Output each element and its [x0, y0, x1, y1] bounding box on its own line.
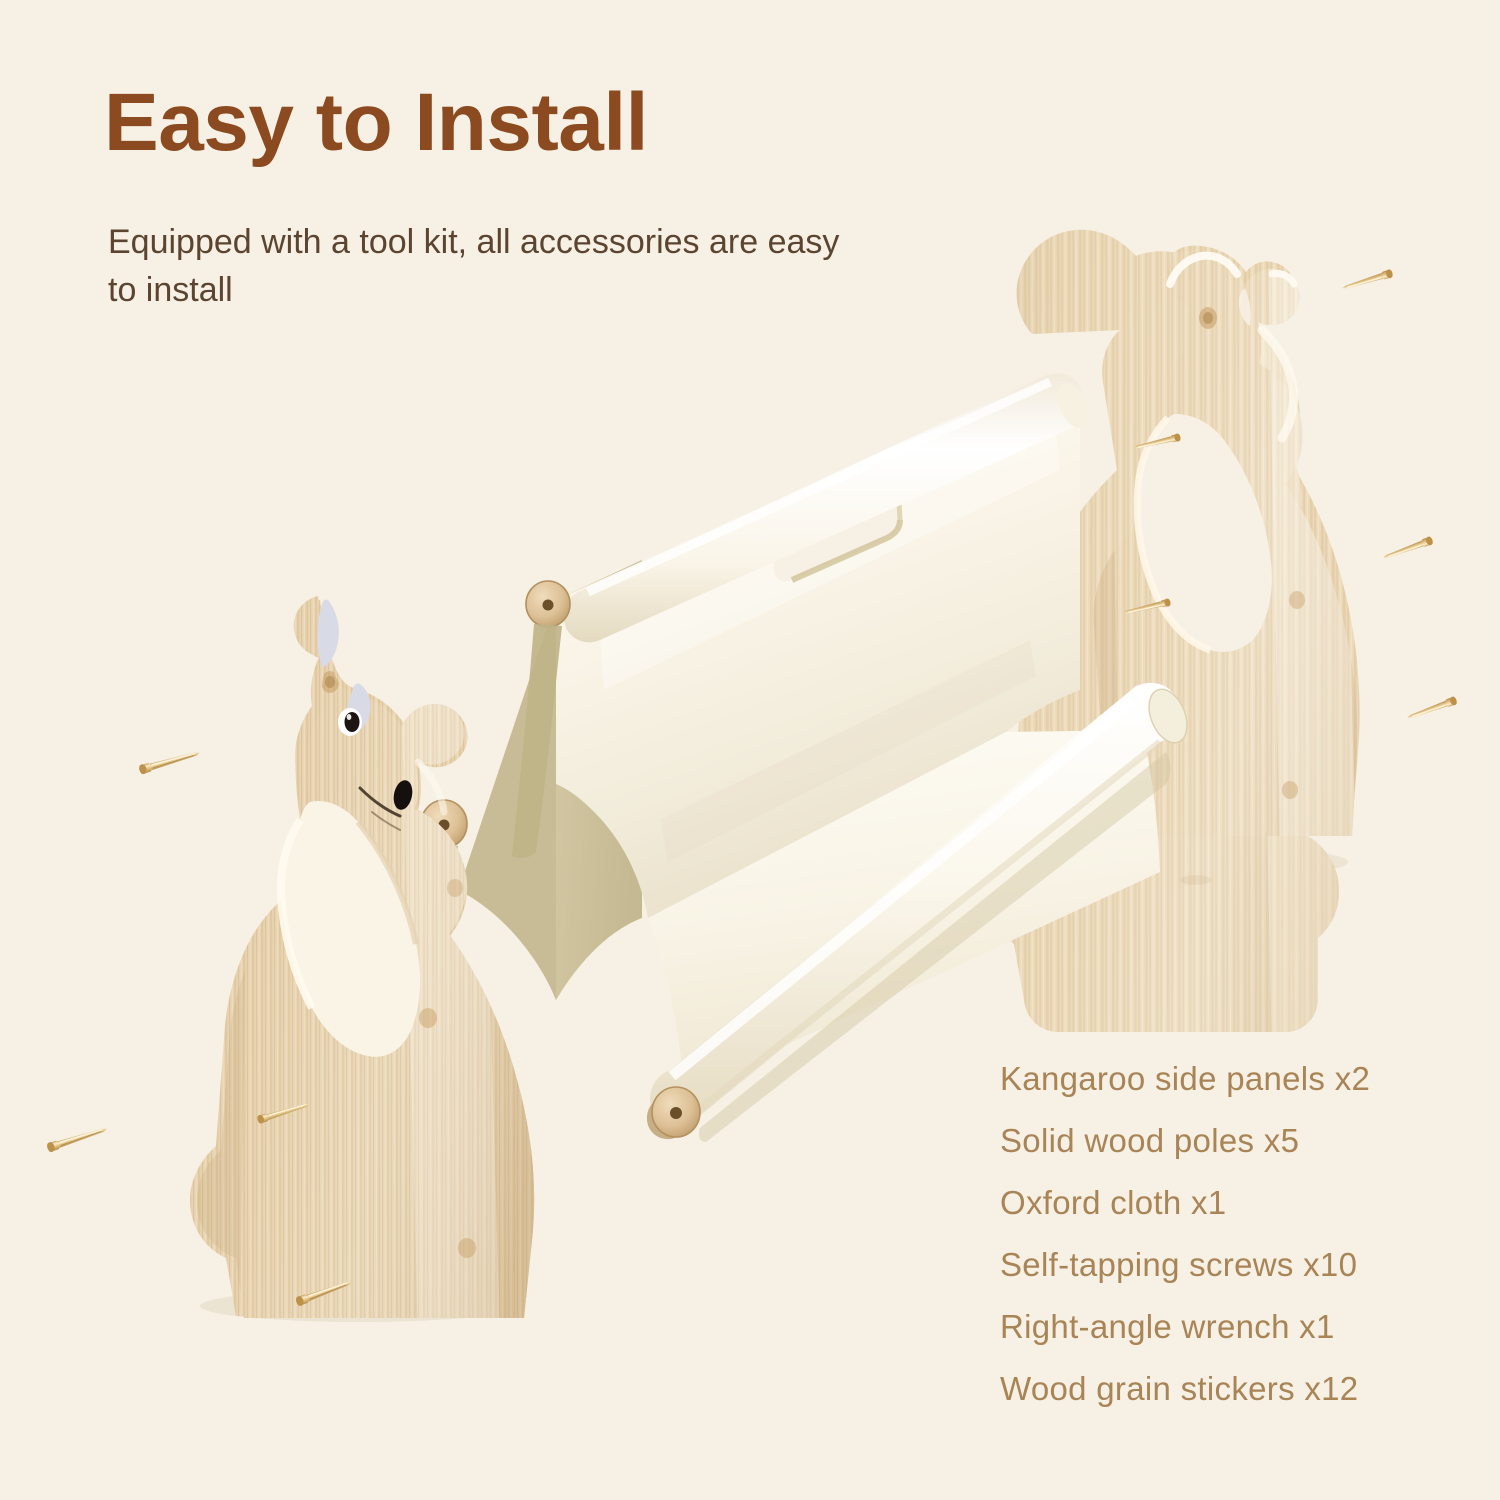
screw — [1341, 269, 1394, 293]
pole-end-right — [1142, 684, 1195, 749]
oxford-cloth-assembly — [412, 374, 1194, 1142]
cloth-handle-cutout — [773, 490, 900, 581]
parts-list-item: Right-angle wrench x1 — [1000, 1310, 1470, 1343]
right-kangaroo-panel — [950, 200, 1420, 1100]
cloth-back-face — [556, 560, 642, 1000]
dowel-cap-mid-left — [412, 800, 467, 1002]
parts-list-item: Oxford cloth x1 — [1000, 1186, 1470, 1219]
right-panel-pouch-cutout — [1137, 414, 1272, 652]
parts-list-item: Solid wood poles x5 — [1000, 1124, 1470, 1157]
dowel-cap-lower-left — [647, 1087, 700, 1139]
page-subtitle: Equipped with a tool kit, all accessorie… — [108, 218, 868, 315]
infographic-canvas: Easy to Install Equipped with a tool kit… — [0, 0, 1500, 1500]
left-panel-body — [197, 600, 534, 1318]
dowel-cap-upper-left — [512, 581, 570, 858]
page-title: Easy to Install — [104, 82, 648, 164]
left-kangaroo-panel — [180, 560, 580, 1350]
pole-end-upper-right — [1051, 379, 1094, 433]
kangaroo-eye — [338, 708, 362, 736]
right-panel-silhouette — [1078, 250, 1358, 836]
kangaroo-ear-back — [318, 600, 339, 668]
kangaroo-nose — [391, 778, 415, 811]
screw — [1122, 598, 1171, 617]
top-pole — [564, 374, 1085, 643]
screw — [1382, 536, 1434, 562]
parts-list: Kangaroo side panels x2 Solid wood poles… — [1000, 1062, 1470, 1434]
screw — [46, 1124, 109, 1153]
cloth-main-sheet — [556, 378, 1080, 918]
kangaroo-ear-front — [346, 683, 370, 736]
screw — [138, 748, 201, 775]
screw — [256, 1100, 311, 1124]
screw — [1132, 433, 1181, 452]
parts-list-item: Self-tapping screws x10 — [1000, 1248, 1470, 1281]
cloth-lower-sheet — [648, 730, 1160, 1092]
left-panel-pouch-cutout — [281, 801, 420, 1057]
screw — [295, 1277, 353, 1306]
parts-list-item: Kangaroo side panels x2 — [1000, 1062, 1470, 1095]
screw — [1406, 696, 1458, 722]
parts-list-item: Wood grain stickers x12 — [1000, 1372, 1470, 1405]
kangaroo-smile — [360, 788, 400, 816]
